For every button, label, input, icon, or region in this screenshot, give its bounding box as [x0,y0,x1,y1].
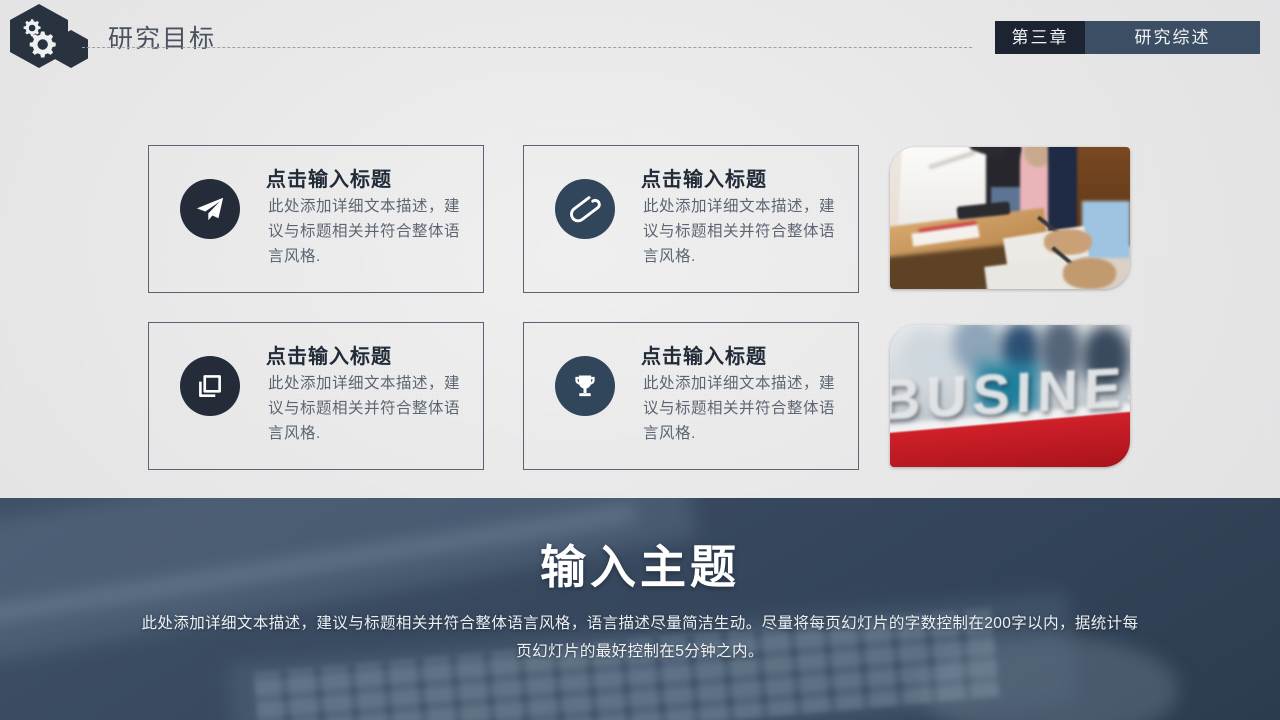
title-divider [82,47,972,48]
card-description: 此处添加详细文本描述，建议与标题相关并符合整体语言风格. [268,371,473,446]
slide-header: 研究目标 第三章 研究综述 [0,0,1280,72]
content-card[interactable]: 点击输入标题 此处添加详细文本描述，建议与标题相关并符合整体语言风格. [523,322,859,470]
card-description: 此处添加详细文本描述，建议与标题相关并符合整体语言风格. [268,194,473,269]
photo-business-image: BUSINESS [890,325,1130,467]
photo-business[interactable]: BUSINESS [890,325,1130,467]
paperclip-icon [555,179,615,239]
photo-meeting[interactable] [890,147,1130,289]
tab-section[interactable]: 研究综述 [1085,21,1260,54]
card-title: 点击输入标题 [266,163,392,192]
bottom-banner: 输入主题 此处添加详细文本描述，建议与标题相关并符合整体语言风格，语言描述尽量简… [0,498,1280,720]
card-title: 点击输入标题 [641,163,767,192]
content-card[interactable]: 点击输入标题 此处添加详细文本描述，建议与标题相关并符合整体语言风格. [148,322,484,470]
card-description: 此处添加详细文本描述，建议与标题相关并符合整体语言风格. [643,371,848,446]
card-description: 此处添加详细文本描述，建议与标题相关并符合整体语言风格. [643,194,848,269]
content-card[interactable]: 点击输入标题 此处添加详细文本描述，建议与标题相关并符合整体语言风格. [523,145,859,293]
copy-layers-icon [180,356,240,416]
banner-title: 输入主题 [0,531,1280,597]
tab-chapter[interactable]: 第三章 [995,21,1085,54]
card-title: 点击输入标题 [266,340,392,369]
card-title: 点击输入标题 [641,340,767,369]
slide: 研究目标 第三章 研究综述 点击输入标题 此处添加详细文本描述，建议与标题相关并… [0,0,1280,720]
content-card[interactable]: 点击输入标题 此处添加详细文本描述，建议与标题相关并符合整体语言风格. [148,145,484,293]
trophy-icon [555,356,615,416]
photo-meeting-image [890,147,1130,289]
page-title: 研究目标 [108,19,216,55]
banner-description: 此处添加详细文本描述，建议与标题相关并符合整体语言风格，语言描述尽量简洁生动。尽… [140,610,1140,666]
paper-plane-icon [180,179,240,239]
gear-icon [18,16,62,58]
gear-hexagon-logo [10,4,94,66]
